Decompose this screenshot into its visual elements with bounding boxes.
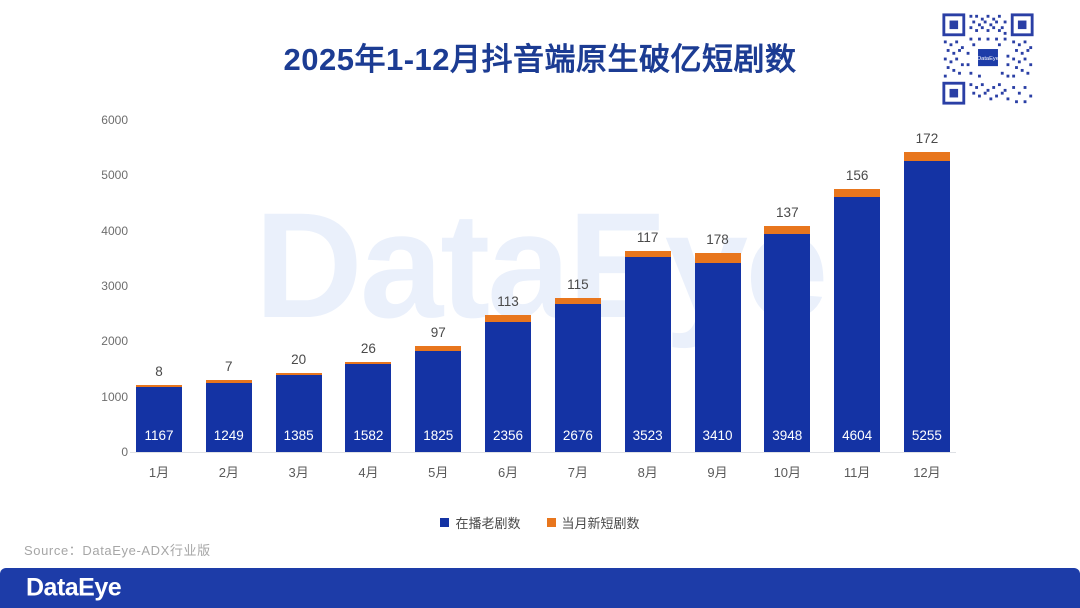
- footer-bar: DataEye: [0, 568, 1080, 608]
- x-axis-tick: 7月: [555, 462, 601, 481]
- x-axis-tick: 2月: [206, 462, 252, 481]
- bar-value-old: 1385: [276, 428, 322, 443]
- bar-value-old: 1582: [345, 428, 391, 443]
- bar-value-new: 7: [192, 359, 266, 374]
- x-axis-tick: 1月: [136, 462, 182, 481]
- bar-segment-old[interactable]: 1582: [345, 364, 391, 452]
- bar-group[interactable]: 971825: [415, 120, 461, 452]
- x-axis: 1月2月3月4月5月6月7月8月9月10月11月12月: [136, 462, 950, 481]
- y-axis-tick: 0: [121, 445, 128, 459]
- legend-label: 当月新短剧数: [562, 513, 640, 532]
- bar-value-old: 2356: [485, 428, 531, 443]
- x-axis-tick: 12月: [904, 462, 950, 481]
- bar-value-old: 4604: [834, 428, 880, 443]
- bar-group[interactable]: 1373948: [764, 120, 810, 452]
- x-axis-tick: 11月: [834, 462, 880, 481]
- bar-segment-old[interactable]: 3523: [625, 257, 671, 452]
- y-axis-tick: 5000: [101, 168, 128, 182]
- bar-value-old: 1167: [136, 428, 182, 443]
- x-axis-baseline: [130, 452, 956, 453]
- bar-value-new: 8: [122, 364, 196, 379]
- bar-group[interactable]: 71249: [206, 120, 252, 452]
- legend-swatch-icon: [440, 518, 449, 527]
- brand-logo: DataEye: [26, 574, 121, 603]
- bar-segment-new[interactable]: [764, 226, 810, 234]
- bar-group[interactable]: 1132356: [485, 120, 531, 452]
- bar-segment-old[interactable]: 4604: [834, 197, 880, 452]
- bar-segment-old[interactable]: 1167: [136, 387, 182, 452]
- y-axis: 0100020003000400050006000: [72, 112, 128, 460]
- legend-item[interactable]: 当月新短剧数: [547, 513, 640, 532]
- bar-value-new: 137: [750, 205, 824, 220]
- bar-segment-new[interactable]: [834, 189, 880, 198]
- bar-value-old: 5255: [904, 428, 950, 443]
- legend-label: 在播老剧数: [455, 513, 520, 532]
- bar-segment-new[interactable]: [695, 253, 741, 263]
- bar-value-old: 1249: [206, 428, 252, 443]
- legend: 在播老剧数当月新短剧数: [0, 513, 1080, 532]
- bar-value-new: 178: [681, 232, 755, 247]
- bar-value-new: 115: [541, 277, 615, 292]
- legend-item[interactable]: 在播老剧数: [440, 513, 520, 532]
- bar-value-old: 1825: [415, 428, 461, 443]
- bar-group[interactable]: 1152676: [555, 120, 601, 452]
- bar-segment-old[interactable]: 3948: [764, 234, 810, 452]
- bar-segment-old[interactable]: 3410: [695, 263, 741, 452]
- bar-segment-old[interactable]: 2356: [485, 322, 531, 452]
- bar-segment-new[interactable]: [904, 152, 950, 162]
- bar-value-new: 113: [471, 294, 545, 309]
- bar-segment-old[interactable]: 1825: [415, 351, 461, 452]
- bar-group[interactable]: 201385: [276, 120, 322, 452]
- bar-value-new: 117: [611, 230, 685, 245]
- y-axis-tick: 2000: [101, 334, 128, 348]
- bar-value-new: 20: [262, 352, 336, 367]
- bar-value-new: 26: [331, 341, 405, 356]
- x-axis-tick: 4月: [345, 462, 391, 481]
- x-axis-tick: 6月: [485, 462, 531, 481]
- bar-segment-old[interactable]: 1385: [276, 375, 322, 452]
- bar-group[interactable]: 261582: [345, 120, 391, 452]
- y-axis-tick: 6000: [101, 113, 128, 127]
- bar-segment-old[interactable]: 2676: [555, 304, 601, 452]
- bars-container: 8116771249201385261582971825113235611526…: [136, 120, 950, 452]
- y-axis-tick: 3000: [101, 279, 128, 293]
- bar-value-old: 2676: [555, 428, 601, 443]
- bar-group[interactable]: 1783410: [695, 120, 741, 452]
- x-axis-tick: 10月: [764, 462, 810, 481]
- bar-value-old: 3948: [764, 428, 810, 443]
- bar-segment-old[interactable]: 1249: [206, 383, 252, 452]
- bar-value-new: 172: [890, 131, 964, 146]
- bar-group[interactable]: 81167: [136, 120, 182, 452]
- bar-value-old: 3410: [695, 428, 741, 443]
- legend-swatch-icon: [547, 518, 556, 527]
- bar-value-old: 3523: [625, 428, 671, 443]
- x-axis-tick: 5月: [415, 462, 461, 481]
- x-axis-tick: 8月: [625, 462, 671, 481]
- y-axis-tick: 1000: [101, 390, 128, 404]
- x-axis-tick: 3月: [276, 462, 322, 481]
- y-axis-tick: 4000: [101, 224, 128, 238]
- bar-group[interactable]: 1564604: [834, 120, 880, 452]
- x-axis-tick: 9月: [695, 462, 741, 481]
- bar-value-new: 97: [401, 325, 475, 340]
- bar-group[interactable]: 1173523: [625, 120, 671, 452]
- bar-group[interactable]: 1725255: [904, 120, 950, 452]
- bar-segment-old[interactable]: 5255: [904, 161, 950, 452]
- source-note: Source：DataEye-ADX行业版: [24, 540, 211, 559]
- bar-value-new: 156: [820, 168, 894, 183]
- plot-area: 8116771249201385261582971825113235611526…: [136, 120, 950, 452]
